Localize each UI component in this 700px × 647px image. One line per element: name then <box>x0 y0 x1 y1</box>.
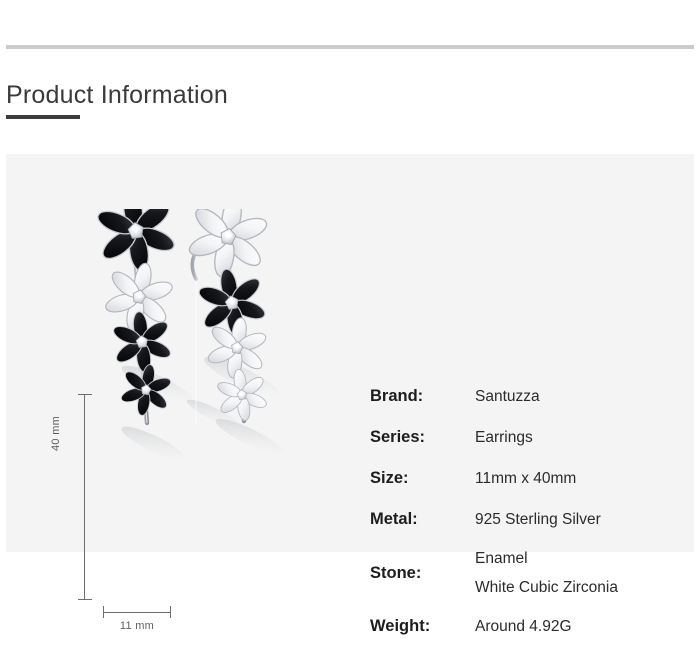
spec-row-brand: Brand: Santuzza <box>370 376 670 417</box>
heading-underline <box>6 115 80 119</box>
dimension-line-horizontal <box>103 606 171 618</box>
dimension-label-width: 11 mm <box>103 620 171 632</box>
spec-label-weight: Weight: <box>370 617 475 636</box>
section-heading: Product Information <box>6 80 406 119</box>
spec-value-metal: 925 Sterling Silver <box>475 511 601 529</box>
spec-label-size: Size: <box>370 469 475 488</box>
spec-value-weight: Around 4.92G <box>475 618 572 636</box>
spec-row-series: Series: Earrings <box>370 417 670 458</box>
dimension-cap-right <box>170 606 171 618</box>
spec-table: Brand: Santuzza Series: Earrings Size: 1… <box>370 376 670 647</box>
spec-value-stone-line-2: White Cubic Zirconia <box>475 573 618 602</box>
spec-value-stone-line-1: Enamel <box>475 544 618 573</box>
dimension-label-height: 40 mm <box>50 416 62 451</box>
spec-label-stone: Stone: <box>370 564 475 583</box>
dimension-stroke-vertical <box>84 394 85 600</box>
spec-value-stone: Enamel White Cubic Zirconia <box>475 544 618 602</box>
page-title: Product Information <box>6 80 406 110</box>
spec-label-brand: Brand: <box>370 387 475 406</box>
product-info-panel: 40 mm 11 mm Brand: Santuzza Series: Earr… <box>6 154 694 552</box>
spec-row-stone: Stone: Enamel White Cubic Zirconia <box>370 540 670 606</box>
spec-row-metal: Metal: 925 Sterling Silver <box>370 499 670 540</box>
spec-row-weight: Weight: Around 4.92G <box>370 606 670 647</box>
spec-label-series: Series: <box>370 428 475 447</box>
dimension-stroke-horizontal <box>103 612 171 613</box>
spec-value-series: Earrings <box>475 429 533 447</box>
dimension-cap-bottom <box>78 599 92 600</box>
dimension-cap-top <box>78 394 92 395</box>
spec-value-size: 11mm x 40mm <box>475 470 576 488</box>
spec-value-brand: Santuzza <box>475 388 540 406</box>
spec-label-metal: Metal: <box>370 510 475 529</box>
top-divider <box>6 45 694 49</box>
spec-row-size: Size: 11mm x 40mm <box>370 458 670 499</box>
dimension-line-vertical <box>78 394 92 600</box>
